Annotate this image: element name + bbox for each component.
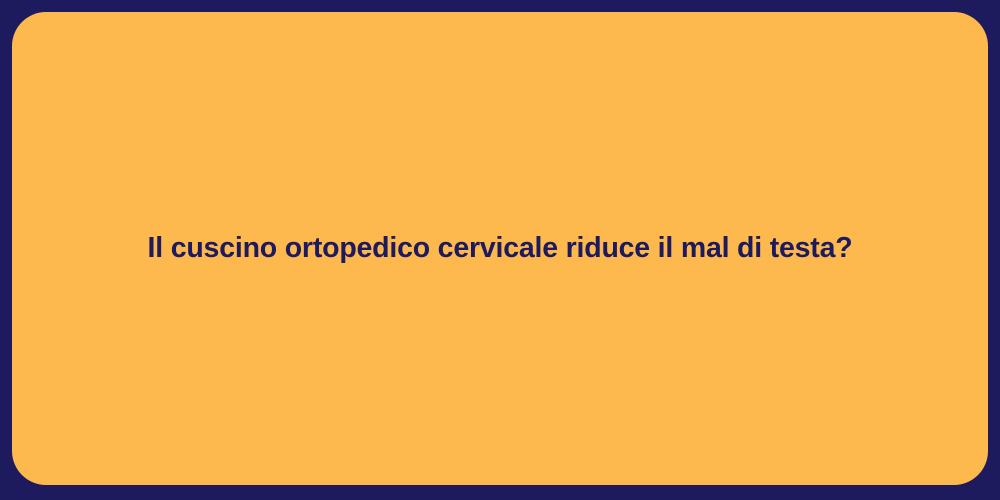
banner-heading: Il cuscino ortopedico cervicale riduce i… bbox=[148, 231, 853, 267]
banner-panel: Il cuscino ortopedico cervicale riduce i… bbox=[12, 12, 988, 485]
banner-frame: Il cuscino ortopedico cervicale riduce i… bbox=[0, 0, 1000, 500]
